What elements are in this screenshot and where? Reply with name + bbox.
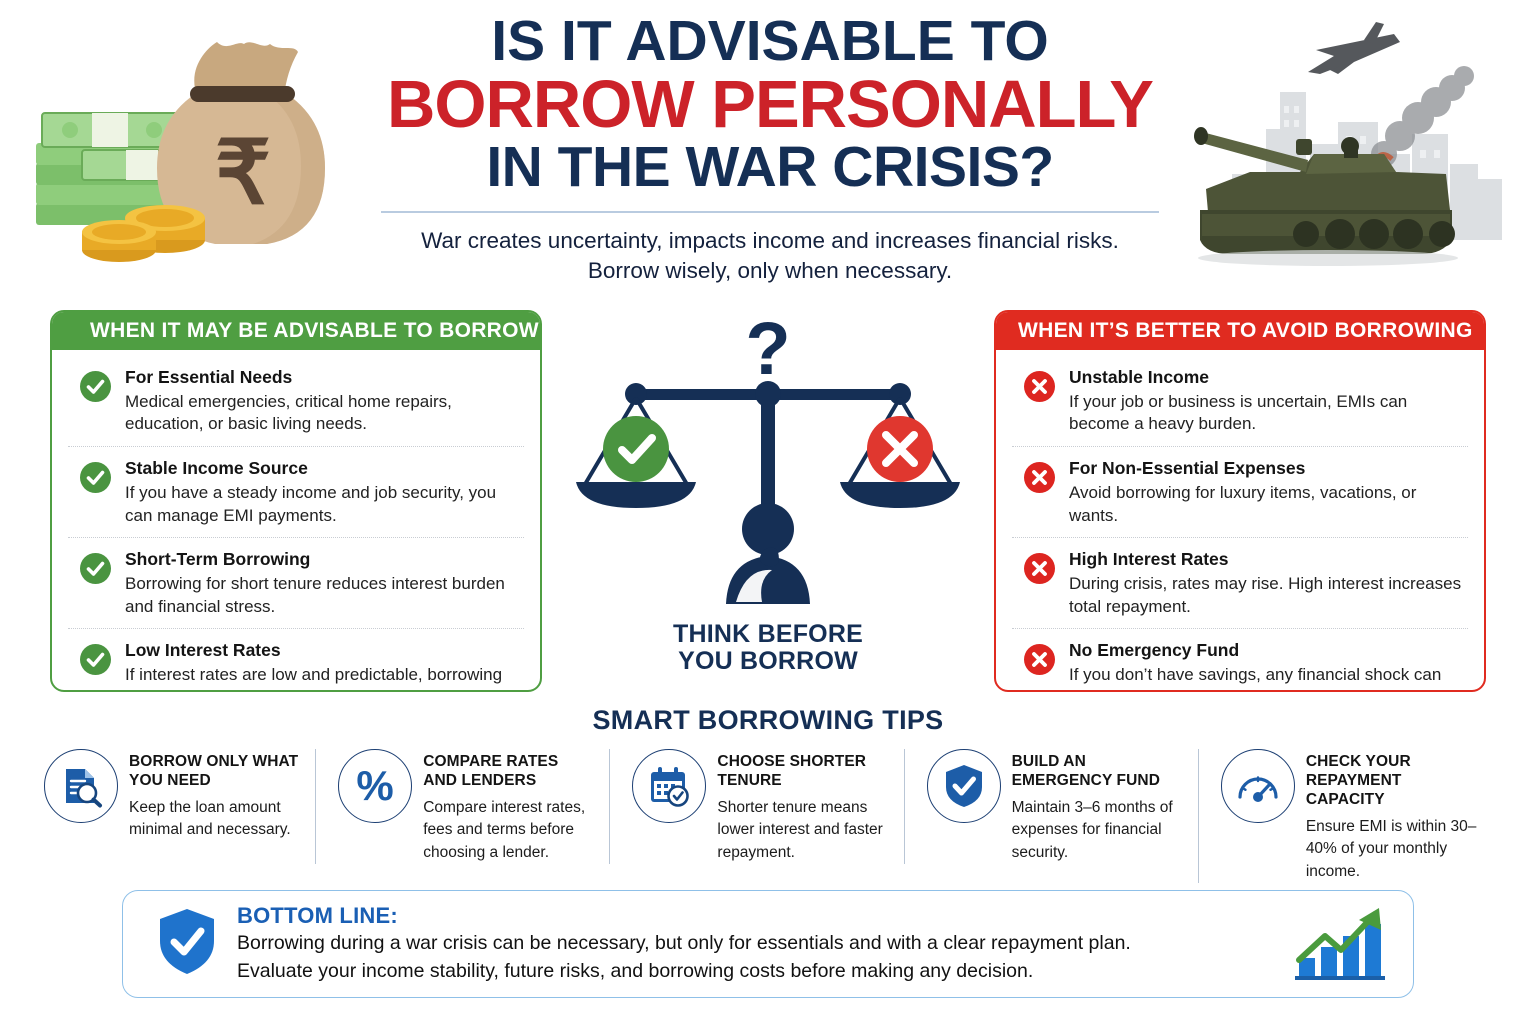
list-item-title: Low Interest Rates bbox=[125, 640, 524, 662]
tips-heading: SMART BORROWING TIPS bbox=[0, 705, 1536, 736]
avoid-panel: WHEN IT’S BETTER TO AVOID BORROWING Unst… bbox=[994, 310, 1486, 692]
x-circle-icon bbox=[1024, 644, 1055, 675]
tip-title: BUILD AN EMERGENCY FUND bbox=[1012, 753, 1184, 791]
svg-text:%: % bbox=[357, 762, 394, 809]
advisable-panel-heading: WHEN IT MAY BE ADVISABLE TO BORROW bbox=[52, 312, 540, 350]
list-item-title: Short-Term Borrowing bbox=[125, 549, 524, 571]
x-circle-icon bbox=[1024, 462, 1055, 493]
list-item-desc: During crisis, rates may rise. High inte… bbox=[1069, 573, 1468, 618]
tip-choose-shorter-tenure: CHOOSE SHORTER TENURE Shorter tenure mea… bbox=[609, 749, 903, 864]
list-item-title: For Essential Needs bbox=[125, 367, 524, 389]
list-item: For Essential Needs Medical emergencies,… bbox=[68, 356, 524, 447]
tip-desc: Maintain 3–6 months of expenses for fina… bbox=[1012, 797, 1184, 864]
money-bag-cash-coins-illustration: ₹ bbox=[22, 18, 367, 268]
subtitle-line-1: War creates uncertainty, impacts income … bbox=[375, 226, 1165, 256]
x-circle-icon bbox=[1024, 553, 1055, 584]
list-item-desc: If your job or business is uncertain, EM… bbox=[1069, 391, 1468, 436]
tip-title: CHOOSE SHORTER TENURE bbox=[717, 753, 889, 791]
tip-desc: Compare interest rates, fees and terms b… bbox=[423, 797, 595, 864]
subtitle-line-2: Borrow wisely, only when necessary. bbox=[375, 256, 1165, 286]
list-item: Stable Income Source If you have a stead… bbox=[68, 447, 524, 538]
document-magnifier-icon bbox=[44, 749, 118, 823]
scale-caption-line-2: YOU BORROW bbox=[568, 648, 968, 675]
scale-caption-line-1: THINK BEFORE bbox=[568, 621, 968, 648]
smart-borrowing-tips-section: SMART BORROWING TIPS BORROW ONLY WHAT YO… bbox=[0, 705, 1536, 890]
list-item-title: High Interest Rates bbox=[1069, 549, 1468, 571]
tip-title: COMPARE RATES AND LENDERS bbox=[423, 753, 595, 791]
avoid-panel-heading: WHEN IT’S BETTER TO AVOID BORROWING bbox=[996, 312, 1484, 350]
calendar-check-icon bbox=[632, 749, 706, 823]
tip-borrow-only-what-you-need: BORROW ONLY WHAT YOU NEED Keep the loan … bbox=[44, 749, 315, 842]
header-section: ₹ bbox=[0, 0, 1536, 310]
tip-title: BORROW ONLY WHAT YOU NEED bbox=[129, 753, 301, 791]
list-item-title: No Emergency Fund bbox=[1069, 640, 1468, 662]
scale-graphic: ? bbox=[568, 314, 968, 614]
advisable-panel: WHEN IT MAY BE ADVISABLE TO BORROW For E… bbox=[50, 310, 542, 692]
bottom-line-section: BOTTOM LINE: Borrowing during a war cris… bbox=[0, 890, 1536, 1015]
check-circle-icon bbox=[80, 644, 111, 675]
tip-build-an-emergency-fund: BUILD AN EMERGENCY FUND Maintain 3–6 mon… bbox=[904, 749, 1198, 864]
percent-icon: % bbox=[338, 749, 412, 823]
avoid-panel-body: Unstable Income If your job or business … bbox=[996, 350, 1484, 692]
check-circle-icon bbox=[80, 462, 111, 493]
thinking-person-icon bbox=[726, 503, 810, 604]
bottom-line-text: BOTTOM LINE: Borrowing during a war cris… bbox=[237, 903, 1273, 985]
list-item: Short-Term Borrowing Borrowing for short… bbox=[68, 538, 524, 629]
growth-bar-chart-icon bbox=[1291, 902, 1387, 987]
list-item: Unstable Income If your job or business … bbox=[1012, 356, 1468, 447]
balance-scale-illustration: ? THINK BEFORE bbox=[568, 314, 968, 704]
list-item-desc: Avoid borrowing for luxury items, vacati… bbox=[1069, 482, 1468, 527]
war-tank-jet-city-illustration bbox=[1188, 14, 1518, 269]
page-title-line-1: IS IT ADVISABLE TO bbox=[375, 14, 1165, 70]
list-item: For Non-Essential Expenses Avoid borrowi… bbox=[1012, 447, 1468, 538]
title-block: IS IT ADVISABLE TO BORROW PERSONALLY IN … bbox=[375, 14, 1165, 286]
bottom-line-heading: BOTTOM LINE: bbox=[237, 903, 1273, 929]
list-item-desc: If interest rates are low and predictabl… bbox=[125, 664, 524, 692]
tip-desc: Ensure EMI is within 30–40% of your mont… bbox=[1306, 816, 1478, 883]
svg-text:?: ? bbox=[745, 314, 790, 390]
x-circle-icon bbox=[1024, 371, 1055, 402]
bottom-line-card: BOTTOM LINE: Borrowing during a war cris… bbox=[122, 890, 1414, 998]
list-item-desc: Medical emergencies, critical home repai… bbox=[125, 391, 524, 436]
check-circle-icon bbox=[80, 553, 111, 584]
list-item-desc: If you have a steady income and job secu… bbox=[125, 482, 524, 527]
bottom-line-1: Borrowing during a war crisis can be nec… bbox=[237, 930, 1273, 958]
tip-compare-rates-and-lenders: % COMPARE RATES AND LENDERS Compare inte… bbox=[315, 749, 609, 864]
check-circle-icon bbox=[80, 371, 111, 402]
list-item: High Interest Rates During crisis, rates… bbox=[1012, 538, 1468, 629]
tip-desc: Keep the loan amount minimal and necessa… bbox=[129, 797, 301, 842]
comparison-section: WHEN IT MAY BE ADVISABLE TO BORROW For E… bbox=[0, 310, 1536, 710]
list-item-desc: Borrowing for short tenure reduces inter… bbox=[125, 573, 524, 618]
scale-caption: THINK BEFORE YOU BORROW bbox=[568, 621, 968, 675]
list-item-desc: If you don’t have savings, any financial… bbox=[1069, 664, 1468, 692]
tip-check-your-repayment-capacity: CHECK YOUR REPAYMENT CAPACITY Ensure EMI… bbox=[1198, 749, 1492, 883]
advisable-panel-body: For Essential Needs Medical emergencies,… bbox=[52, 350, 540, 692]
list-item-title: For Non-Essential Expenses bbox=[1069, 458, 1468, 480]
shield-check-icon bbox=[157, 907, 217, 982]
shield-check-icon bbox=[927, 749, 1001, 823]
title-divider bbox=[381, 211, 1159, 213]
svg-text:₹: ₹ bbox=[215, 123, 271, 222]
page-title-line-3: IN THE WAR CRISIS? bbox=[375, 140, 1165, 196]
bottom-line-2: Evaluate your income stability, future r… bbox=[237, 958, 1273, 986]
list-item-title: Stable Income Source bbox=[125, 458, 524, 480]
list-item: Low Interest Rates If interest rates are… bbox=[68, 629, 524, 692]
list-item-title: Unstable Income bbox=[1069, 367, 1468, 389]
subtitle: War creates uncertainty, impacts income … bbox=[375, 226, 1165, 286]
tip-title: CHECK YOUR REPAYMENT CAPACITY bbox=[1306, 753, 1478, 810]
page-title-line-2: BORROW PERSONALLY bbox=[375, 72, 1165, 138]
tips-row: BORROW ONLY WHAT YOU NEED Keep the loan … bbox=[0, 749, 1536, 883]
tip-desc: Shorter tenure means lower interest and … bbox=[717, 797, 889, 864]
list-item: No Emergency Fund If you don’t have savi… bbox=[1012, 629, 1468, 692]
speedometer-icon bbox=[1221, 749, 1295, 823]
